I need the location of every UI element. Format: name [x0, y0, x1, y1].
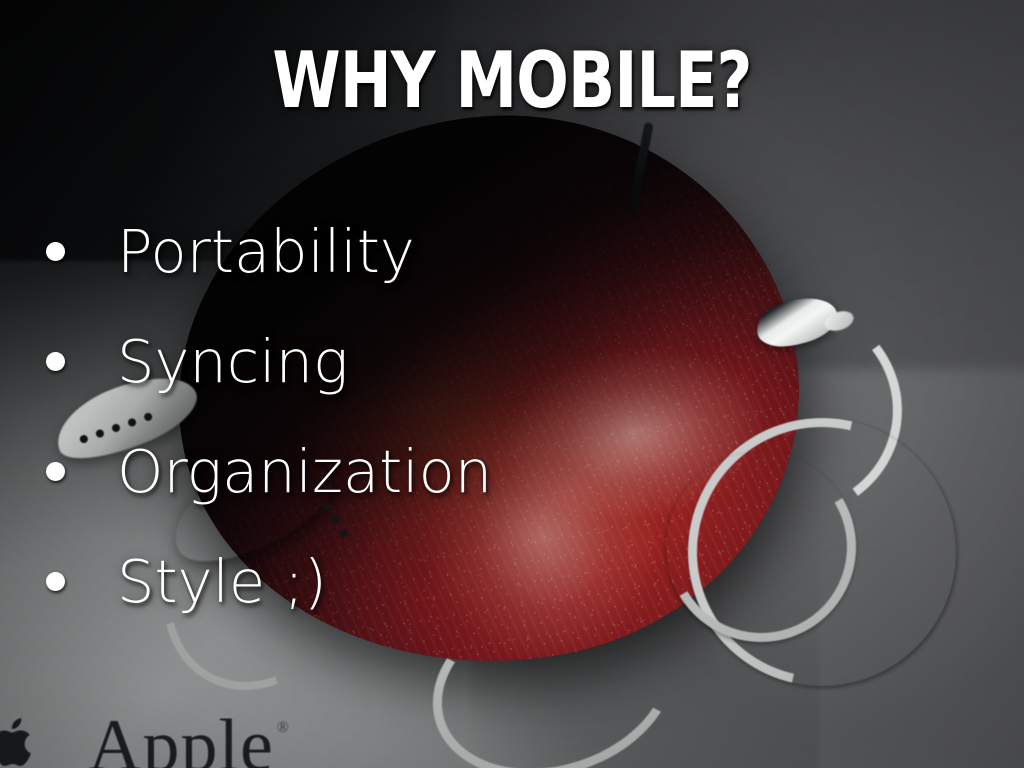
bullet-item-portability: Portability	[46, 196, 706, 306]
apple-logo-icon	[0, 708, 44, 768]
apple-wordmark: Apple ®	[88, 718, 274, 768]
bullet-dot-icon	[46, 462, 65, 481]
apple-branding: Apple ®	[0, 708, 274, 768]
apple-wordmark-text: Apple	[88, 705, 274, 768]
bullet-dot-icon	[46, 242, 65, 261]
bullet-dot-icon	[46, 352, 65, 371]
bullet-label: Syncing	[117, 332, 348, 391]
bullet-label: Style ;)	[117, 552, 327, 611]
bullet-label: Portability	[117, 222, 415, 281]
bullet-label: Organization	[117, 442, 492, 501]
presentation-slide: Apple ® WHY MOBILE? Portability Syncing …	[0, 0, 1024, 768]
slide-bullet-list: Portability Syncing Organization Style ;…	[46, 196, 706, 636]
bullet-item-syncing: Syncing	[46, 306, 706, 416]
slide-title: WHY MOBILE?	[72, 41, 953, 119]
bullet-item-organization: Organization	[46, 416, 706, 526]
bullet-dot-icon	[46, 572, 65, 591]
bullet-item-style: Style ;)	[46, 526, 706, 636]
registered-trademark-mark: ®	[277, 722, 290, 734]
